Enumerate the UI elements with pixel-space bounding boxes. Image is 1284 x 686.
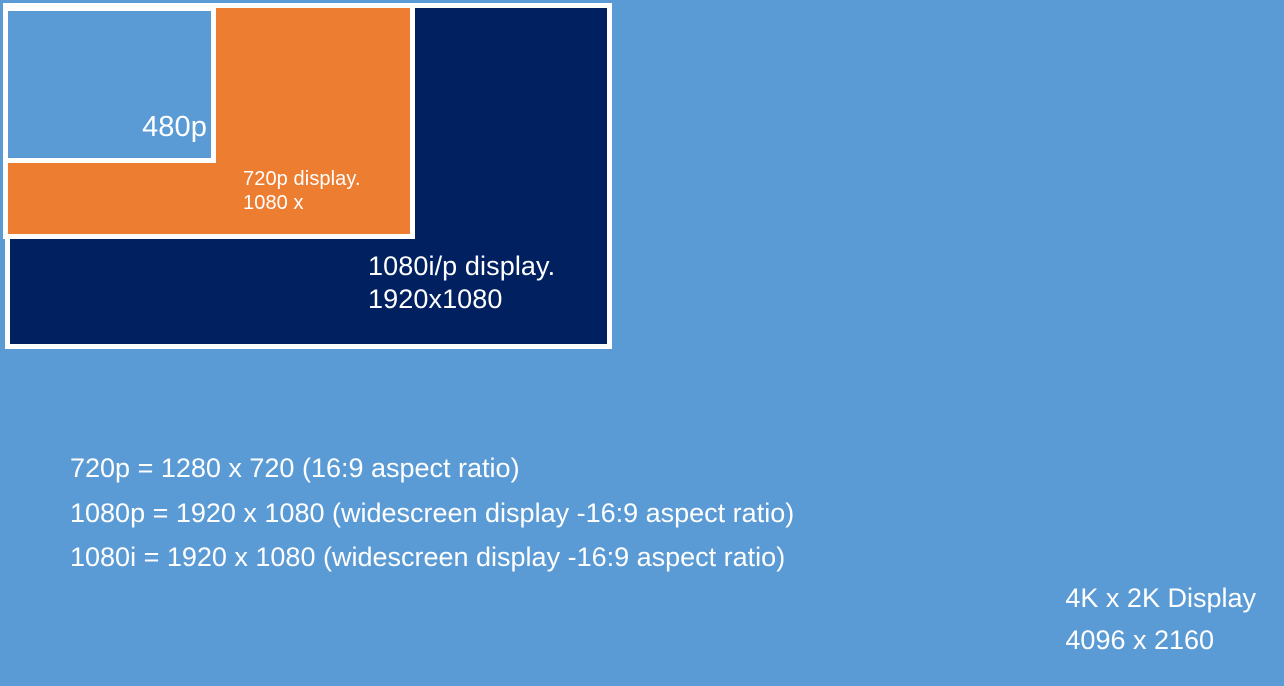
four-k-title: 4K x 2K Display <box>1065 578 1256 620</box>
resolution-box-480-label: 480p <box>0 110 207 145</box>
resolution-legend: 720p = 1280 x 720 (16:9 aspect ratio) 10… <box>70 446 1070 580</box>
legend-line-1080p: 1080p = 1920 x 1080 (widescreen display … <box>70 491 1070 536</box>
four-k-resolution: 4096 x 2160 <box>1065 620 1256 662</box>
legend-line-720p: 720p = 1280 x 720 (16:9 aspect ratio) <box>70 446 1070 491</box>
resolution-box-720-label: 720p display. 1080 x <box>243 167 413 216</box>
resolution-box-1080-label: 1080i/p display. 1920x1080 <box>368 250 613 316</box>
resolution-comparison-slide: 480p 720p display. 1080 x 1080i/p displa… <box>0 0 1284 686</box>
legend-line-1080i: 1080i = 1920 x 1080 (widescreen display … <box>70 535 1070 580</box>
four-k-display-note: 4K x 2K Display 4096 x 2160 <box>1065 578 1256 662</box>
